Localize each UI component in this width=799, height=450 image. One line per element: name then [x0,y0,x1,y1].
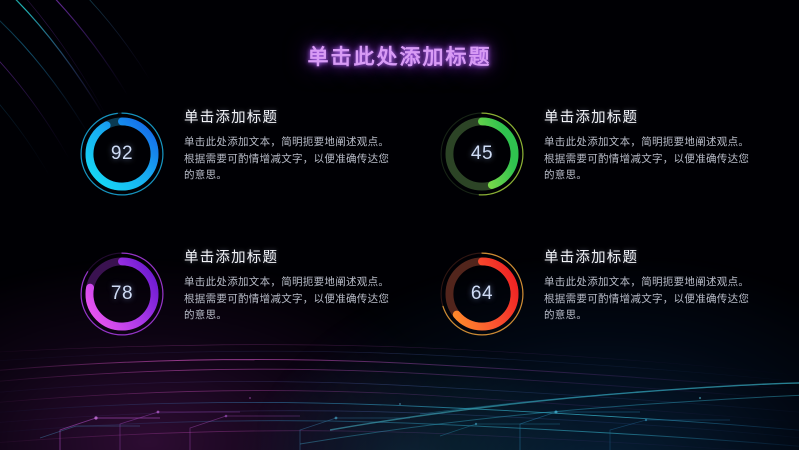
metric-body-1: 单击此处添加文本，简明扼要地阐述观点。根据需要可酌情增减文字，以便准确传达您的意… [184,134,398,184]
metric-body-4: 单击此处添加文本，简明扼要地阐述观点。根据需要可酌情增减文字，以便准确传达您的意… [544,274,758,324]
gauge-ring-2: 45 [438,110,526,198]
gauge-ring-3: 78 [78,250,166,338]
metric-text-2: 单击添加标题 单击此处添加文本，简明扼要地阐述观点。根据需要可酌情增减文字，以便… [526,98,758,184]
metric-item-2: 45 单击添加标题 单击此处添加文本，简明扼要地阐述观点。根据需要可酌情增减文字… [438,98,778,238]
metric-item-1: 92 单击添加标题 单击此处添加文本，简明扼要地阐述观点。根据需要可酌情增减文字… [78,98,438,238]
metric-title-2: 单击添加标题 [544,106,758,127]
metric-grid: 92 单击添加标题 单击此处添加文本，简明扼要地阐述观点。根据需要可酌情增减文字… [78,98,778,378]
metric-text-3: 单击添加标题 单击此处添加文本，简明扼要地阐述观点。根据需要可酌情增减文字，以便… [166,238,398,324]
slide-canvas: 单击此处添加标题 92 [0,0,799,450]
gauge-value-2: 45 [438,110,526,198]
metric-title-4: 单击添加标题 [544,246,758,267]
gauge-ring-4: 64 [438,250,526,338]
metric-text-4: 单击添加标题 单击此处添加文本，简明扼要地阐述观点。根据需要可酌情增减文字，以便… [526,238,758,324]
gauge-value-3: 78 [78,250,166,338]
metric-title-1: 单击添加标题 [184,106,398,127]
metric-text-1: 单击添加标题 单击此处添加文本，简明扼要地阐述观点。根据需要可酌情增减文字，以便… [166,98,398,184]
gauge-ring-1: 92 [78,110,166,198]
gauge-value-4: 64 [438,250,526,338]
metric-item-3: 78 单击添加标题 单击此处添加文本，简明扼要地阐述观点。根据需要可酌情增减文字… [78,238,438,378]
metric-title-3: 单击添加标题 [184,246,398,267]
metric-body-3: 单击此处添加文本，简明扼要地阐述观点。根据需要可酌情增减文字，以便准确传达您的意… [184,274,398,324]
metric-body-2: 单击此处添加文本，简明扼要地阐述观点。根据需要可酌情增减文字，以便准确传达您的意… [544,134,758,184]
metric-item-4: 64 单击添加标题 单击此处添加文本，简明扼要地阐述观点。根据需要可酌情增减文字… [438,238,778,378]
page-title: 单击此处添加标题 [0,41,799,71]
gauge-value-1: 92 [78,110,166,198]
